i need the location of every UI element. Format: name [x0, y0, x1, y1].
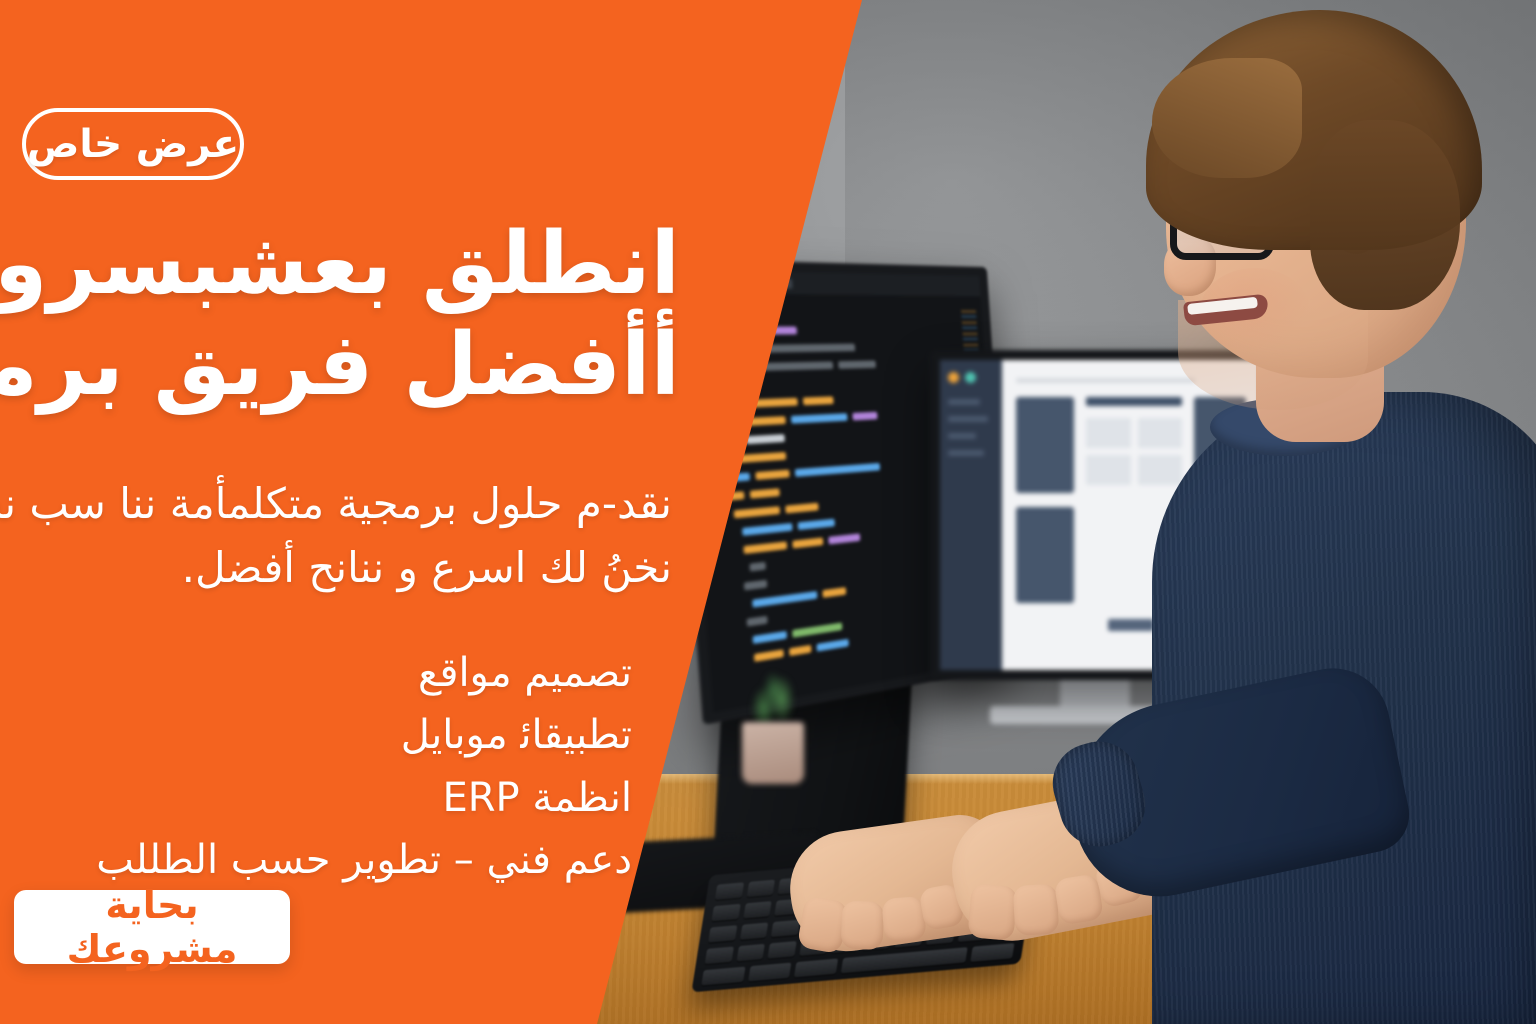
services-list: تصميم مواقع تطبيقاﺋ موبايل انظمة ERP دعم… [0, 642, 642, 892]
special-offer-badge-label: عرض خاص [27, 122, 239, 167]
service-item-web-design: تصميم مواقع [0, 642, 632, 704]
headline-line-2: أأفضل فريق برمجـة [0, 315, 680, 416]
service-item-erp-systems: انظمة ERP [0, 767, 632, 829]
promo-content: عرض خاص انطلق بعشبسروعك أأفضل فريق برمجـ… [0, 0, 1536, 1024]
service-item-mobile-apps: تطبيقاﺋ موبايل [0, 704, 632, 766]
page-title: انطلق بعشبسروعك أأفضل فريق برمجـة [0, 214, 690, 417]
start-project-cta-button[interactable]: بحاية مشروعك [14, 890, 290, 964]
cta-label: بحاية مشروعك [14, 883, 290, 971]
description-text: نقد-م حلول برمجية متكلمأمة ننا سب نشاطلك… [0, 472, 682, 600]
description-line-2: نخنُ لك اسرع و ننانح أفضل. [0, 536, 672, 600]
promo-banner: عرض خاص انطلق بعشبسروعك أأفضل فريق برمجـ… [0, 0, 1536, 1024]
headline-line-1: انطلق بعشبسروعك [0, 214, 680, 315]
special-offer-badge: عرض خاص [22, 108, 244, 180]
description-line-1: نقد-م حلول برمجية متكلمأمة ننا سب نشاطلك [0, 472, 672, 536]
